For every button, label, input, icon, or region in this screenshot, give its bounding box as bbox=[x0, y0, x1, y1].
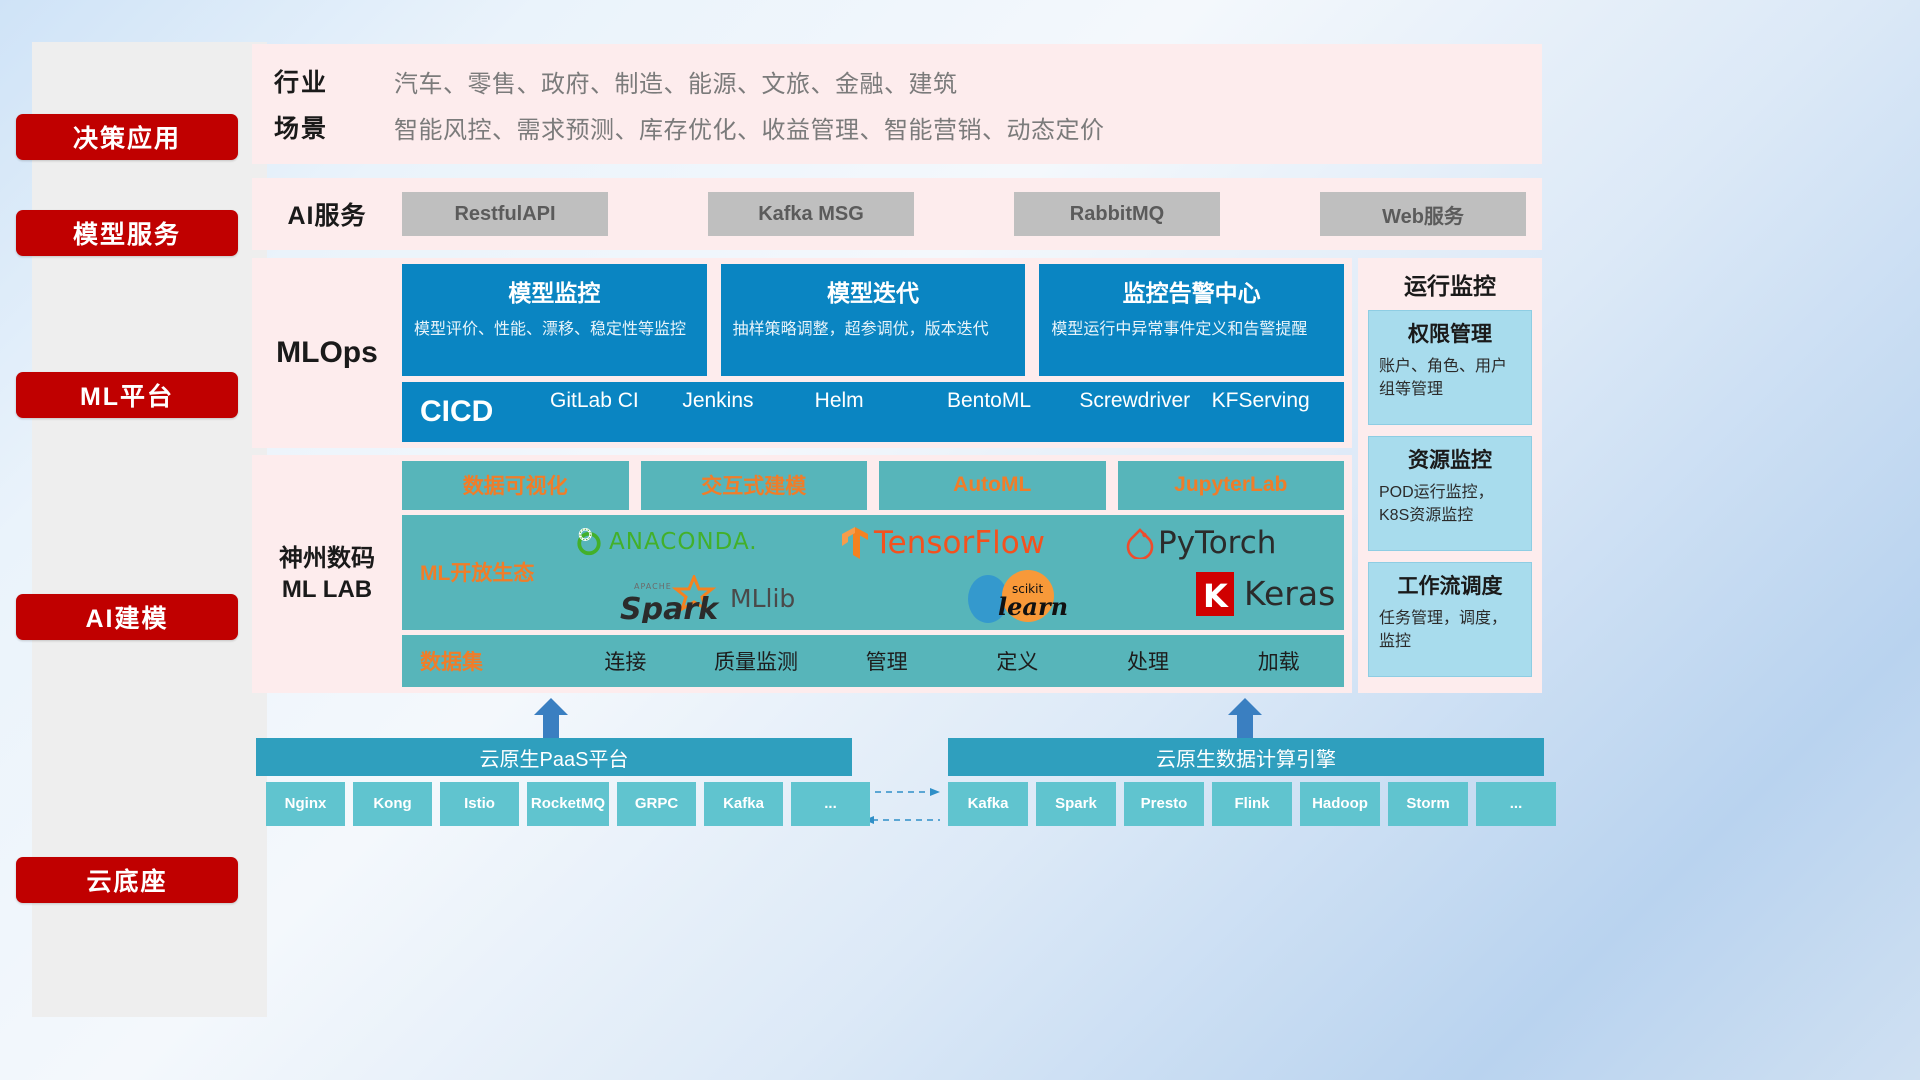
paas-platform-bar[interactable]: 云原生PaaS平台 bbox=[256, 738, 852, 776]
scenario-row: 场景 智能风控、需求预测、库存优化、收益管理、智能营销、动态定价 bbox=[274, 104, 1542, 150]
scenario-values: 智能风控、需求预测、库存优化、收益管理、智能营销、动态定价 bbox=[394, 110, 1105, 145]
cicd-item[interactable]: Helm bbox=[815, 382, 947, 415]
dataset-row: 数据集 连接 质量监测 管理 定义 处理 加载 bbox=[402, 635, 1344, 687]
ai-service-chip[interactable]: RabbitMQ bbox=[1014, 192, 1220, 236]
data-engine-tag[interactable]: Presto bbox=[1124, 782, 1204, 826]
modeling-tool-list: 数据可视化 交互式建模 AutoML JupyterLab bbox=[402, 461, 1344, 510]
anaconda-icon bbox=[574, 527, 604, 557]
mlops-card-desc: 抽样策略调整，超参调优，版本迭代 bbox=[733, 318, 1014, 341]
dataset-item[interactable]: 质量监测 bbox=[691, 646, 822, 676]
modeling-tool[interactable]: 数据可视化 bbox=[402, 461, 629, 510]
mlops-card[interactable]: 模型迭代 抽样策略调整，超参调优，版本迭代 bbox=[721, 264, 1026, 376]
runtime-monitor-card-title: 资源监控 bbox=[1379, 444, 1521, 474]
mlops-label: MLOps bbox=[252, 258, 402, 448]
dataset-item[interactable]: 加载 bbox=[1213, 646, 1344, 676]
data-engine-tag[interactable]: Flink bbox=[1212, 782, 1292, 826]
data-engine-bar[interactable]: 云原生数据计算引擎 bbox=[948, 738, 1544, 776]
ai-service-chip-list: RestfulAPI Kafka MSG RabbitMQ Web服务 bbox=[402, 192, 1542, 236]
paas-tag[interactable]: GRPC bbox=[617, 782, 696, 826]
ai-service-panel: AI服务 RestfulAPI Kafka MSG RabbitMQ Web服务 bbox=[252, 178, 1542, 250]
cicd-item[interactable]: Jenkins bbox=[682, 382, 814, 415]
runtime-monitor-card-desc: POD运行监控，K8S资源监控 bbox=[1379, 481, 1521, 527]
cicd-item-list: GitLab CI Jenkins Helm BentoML Screwdriv… bbox=[550, 382, 1344, 442]
svg-text:APACHE: APACHE bbox=[634, 582, 672, 591]
keras-icon: K bbox=[1194, 570, 1236, 618]
runtime-monitor-card-title: 工作流调度 bbox=[1379, 570, 1521, 600]
svg-text:learn: learn bbox=[998, 592, 1068, 621]
data-engine-tag[interactable]: Kafka bbox=[948, 782, 1028, 826]
ai-modeling-body: 数据可视化 交互式建模 AutoML JupyterLab ML开放生态 A bbox=[402, 455, 1352, 693]
dataset-item[interactable]: 定义 bbox=[952, 646, 1083, 676]
rail-item-label: 模型服务 bbox=[73, 215, 181, 251]
rail-item-ai-modeling[interactable]: AI建模 bbox=[16, 594, 238, 640]
dataset-item[interactable]: 管理 bbox=[821, 646, 952, 676]
pytorch-logo: PyTorch bbox=[1126, 525, 1276, 561]
tensorflow-icon bbox=[840, 526, 870, 560]
mlops-body: 模型监控 模型评价、性能、漂移、稳定性等监控 模型迭代 抽样策略调整，超参调优，… bbox=[402, 258, 1352, 448]
rail-item-label: 云底座 bbox=[86, 862, 167, 898]
scikit-learn-icon: scikit learn bbox=[962, 569, 1082, 625]
cicd-item[interactable]: KFServing bbox=[1212, 382, 1344, 415]
cicd-title: CICD bbox=[420, 395, 550, 429]
cicd-item[interactable]: BentoML bbox=[947, 382, 1079, 415]
cicd-bar: CICD GitLab CI Jenkins Helm BentoML Scre… bbox=[402, 382, 1344, 442]
rail-item-ml-platform[interactable]: ML平台 bbox=[16, 372, 238, 418]
scikit-learn-logo: scikit learn bbox=[962, 569, 1082, 625]
dataset-label: 数据集 bbox=[420, 646, 560, 676]
mlops-card-title: 模型监控 bbox=[414, 274, 695, 308]
svg-text:K: K bbox=[1203, 577, 1229, 615]
ai-service-chip[interactable]: Kafka MSG bbox=[708, 192, 914, 236]
decision-apps-panel: 行业 汽车、零售、政府、制造、能源、文旅、金融、建筑 场景 智能风控、需求预测、… bbox=[252, 44, 1542, 164]
runtime-monitor-card[interactable]: 资源监控 POD运行监控，K8S资源监控 bbox=[1368, 436, 1532, 551]
data-engine-tag-list: Kafka Spark Presto Flink Hadoop Storm ..… bbox=[948, 782, 1556, 826]
mlops-card[interactable]: 监控告警中心 模型运行中异常事件定义和告警提醒 bbox=[1039, 264, 1344, 376]
paas-tag[interactable]: Istio bbox=[440, 782, 519, 826]
paas-tag[interactable]: Nginx bbox=[266, 782, 345, 826]
data-engine-tag[interactable]: Hadoop bbox=[1300, 782, 1380, 826]
keras-logo: K Keras bbox=[1194, 570, 1335, 618]
mlops-card-desc: 模型评价、性能、漂移、稳定性等监控 bbox=[414, 318, 695, 341]
runtime-monitor-card[interactable]: 工作流调度 任务管理，调度，监控 bbox=[1368, 562, 1532, 677]
mlops-card-title: 监控告警中心 bbox=[1051, 274, 1332, 308]
anaconda-logo: ANACONDA. bbox=[574, 527, 758, 557]
mlops-panel: MLOps 模型监控 模型评价、性能、漂移、稳定性等监控 模型迭代 抽样策略调整… bbox=[252, 258, 1352, 448]
paas-tag-list: Nginx Kong Istio RocketMQ GRPC Kafka ... bbox=[266, 782, 870, 826]
runtime-monitor-title: 运行监控 bbox=[1368, 258, 1532, 310]
paas-tag[interactable]: Kafka bbox=[704, 782, 783, 826]
ml-lab-label-line1: 神州数码 bbox=[279, 543, 375, 574]
ml-lab-label-line2: ML LAB bbox=[282, 574, 372, 605]
industry-row: 行业 汽车、零售、政府、制造、能源、文旅、金融、建筑 bbox=[274, 58, 1542, 104]
rail-item-label: AI建模 bbox=[85, 599, 168, 635]
cicd-item[interactable]: GitLab CI bbox=[550, 382, 682, 415]
upward-arrow-icon bbox=[534, 698, 568, 738]
pytorch-icon bbox=[1126, 527, 1154, 559]
rail-item-label: 决策应用 bbox=[73, 119, 181, 155]
ml-ecosystem-logo-list: ANACONDA. TensorFlow bbox=[560, 515, 1344, 630]
mlops-card-desc: 模型运行中异常事件定义和告警提醒 bbox=[1051, 318, 1332, 341]
paas-tag[interactable]: Kong bbox=[353, 782, 432, 826]
scenario-label: 场景 bbox=[274, 109, 394, 145]
spark-icon: APACHE Spark bbox=[620, 575, 724, 623]
rail-item-model-service[interactable]: 模型服务 bbox=[16, 210, 238, 256]
ml-ecosystem-label: ML开放生态 bbox=[420, 557, 560, 587]
dataset-item[interactable]: 连接 bbox=[560, 646, 691, 676]
runtime-monitor-card-desc: 账户、角色、用户组等管理 bbox=[1379, 355, 1521, 401]
paas-tag-more[interactable]: ... bbox=[791, 782, 870, 826]
dataset-item[interactable]: 处理 bbox=[1083, 646, 1214, 676]
ml-lab-label: 神州数码 ML LAB bbox=[252, 455, 402, 693]
cicd-item[interactable]: Screwdriver bbox=[1079, 382, 1211, 415]
mlops-card[interactable]: 模型监控 模型评价、性能、漂移、稳定性等监控 bbox=[402, 264, 707, 376]
ai-service-chip[interactable]: Web服务 bbox=[1320, 192, 1526, 236]
mlops-card-title: 模型迭代 bbox=[733, 274, 1014, 308]
dataset-item-list: 连接 质量监测 管理 定义 处理 加载 bbox=[560, 646, 1344, 676]
modeling-tool[interactable]: JupyterLab bbox=[1118, 461, 1345, 510]
rail-item-decision-apps[interactable]: 决策应用 bbox=[16, 114, 238, 160]
modeling-tool[interactable]: AutoML bbox=[879, 461, 1106, 510]
industry-label: 行业 bbox=[274, 63, 394, 99]
data-engine-tag[interactable]: Spark bbox=[1036, 782, 1116, 826]
svg-text:Spark: Spark bbox=[620, 592, 720, 623]
rail-item-label: ML平台 bbox=[80, 377, 174, 413]
tensorflow-logo: TensorFlow bbox=[840, 525, 1045, 561]
rail-item-cloud-foundation[interactable]: 云底座 bbox=[16, 857, 238, 903]
ai-service-chip[interactable]: RestfulAPI bbox=[402, 192, 608, 236]
ml-ecosystem-row: ML开放生态 ANACONDA. bbox=[402, 515, 1344, 630]
runtime-monitor-card-desc: 任务管理，调度，监控 bbox=[1379, 607, 1521, 653]
data-engine-tag-more[interactable]: ... bbox=[1476, 782, 1556, 826]
bidirectional-link-arrows-icon bbox=[862, 780, 942, 830]
data-engine-tag[interactable]: Storm bbox=[1388, 782, 1468, 826]
mlops-card-list: 模型监控 模型评价、性能、漂移、稳定性等监控 模型迭代 抽样策略调整，超参调优，… bbox=[402, 264, 1344, 376]
spark-mllib-logo: APACHE Spark MLlib bbox=[620, 575, 795, 623]
runtime-monitor-panel: 运行监控 权限管理 账户、角色、用户组等管理 资源监控 POD运行监控，K8S资… bbox=[1358, 258, 1542, 693]
ai-modeling-panel: 神州数码 ML LAB 数据可视化 交互式建模 AutoML JupyterLa… bbox=[252, 455, 1352, 693]
ai-service-label: AI服务 bbox=[252, 196, 402, 232]
runtime-monitor-card-title: 权限管理 bbox=[1379, 318, 1521, 348]
architecture-diagram: 决策应用 模型服务 ML平台 AI建模 云底座 行业 汽车、零售、政府、制造、能… bbox=[0, 0, 1920, 1080]
upward-arrow-icon bbox=[1228, 698, 1262, 738]
modeling-tool[interactable]: 交互式建模 bbox=[641, 461, 868, 510]
runtime-monitor-card[interactable]: 权限管理 账户、角色、用户组等管理 bbox=[1368, 310, 1532, 425]
paas-tag[interactable]: RocketMQ bbox=[527, 782, 609, 826]
industry-values: 汽车、零售、政府、制造、能源、文旅、金融、建筑 bbox=[394, 64, 958, 99]
left-rail: 决策应用 模型服务 ML平台 AI建模 云底座 bbox=[32, 42, 267, 1017]
